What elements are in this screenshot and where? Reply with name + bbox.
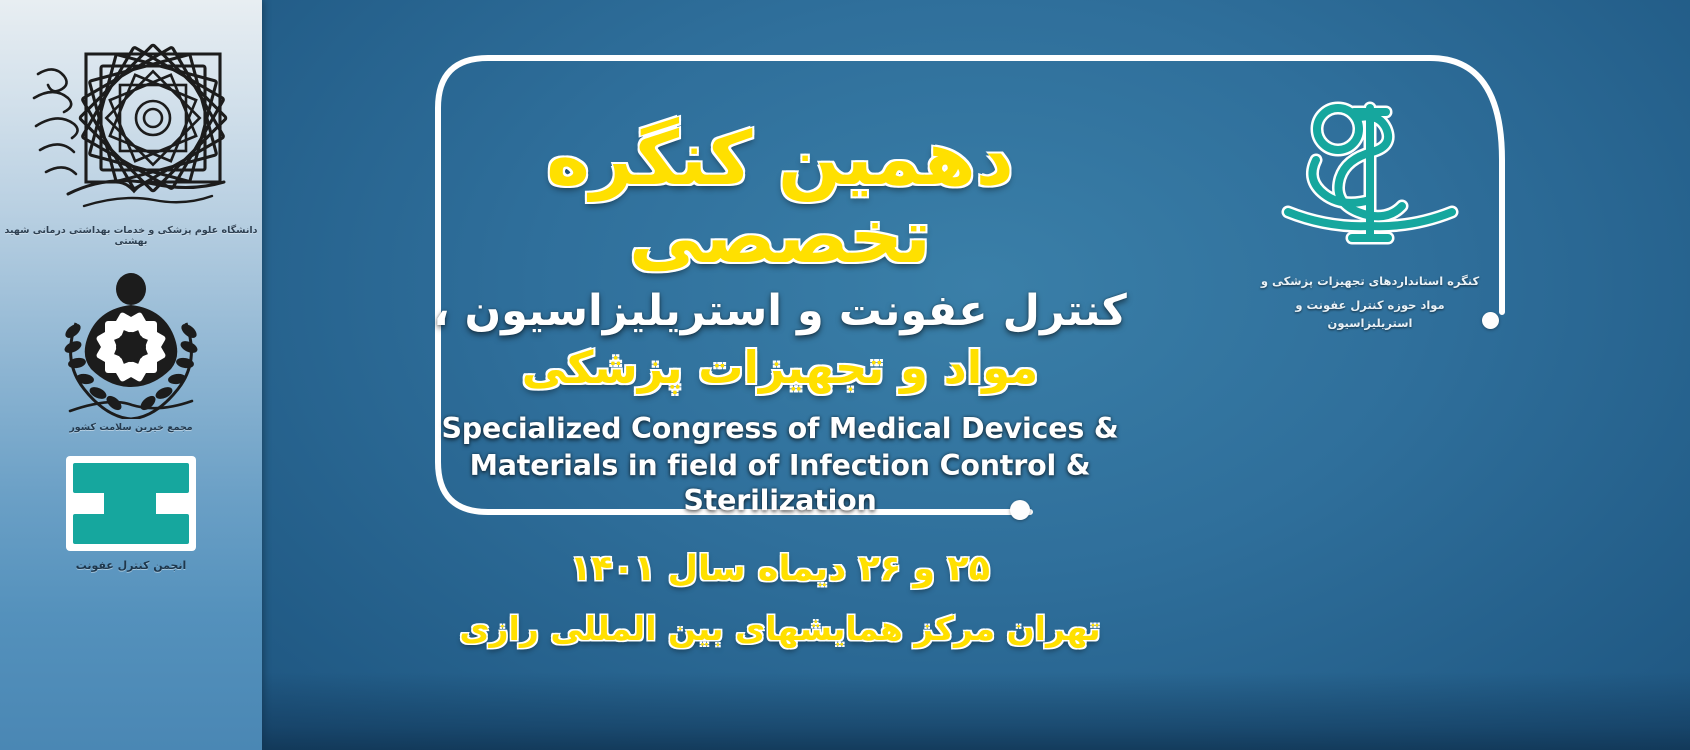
congress-caduceus-emblem-icon	[1270, 88, 1470, 263]
bottom-gradient-overlay	[262, 672, 1690, 750]
infection-control-monogram-icon	[61, 451, 201, 556]
subtitle-line-1: کنترل عفونت و استریلیزاسیون ،	[400, 285, 1160, 337]
logo-caption-infection-control: انجمن کنترل عفونت	[76, 559, 187, 572]
health-assembly-emblem-icon	[46, 269, 216, 419]
event-venue: تهران مرکز همایشهای بین المللی رازی	[400, 608, 1160, 649]
logo-shahid-beheshti-university: دانشگاه علوم پزشکی و خدمات بهداشتی درمان…	[0, 22, 262, 247]
logo-caption-health-assembly: مجمع خیرین سلامت کشور	[69, 422, 192, 433]
event-details: ۲۵ و ۲۶ دیماه سال ۱۴۰۱ تهران مرکز همایشه…	[400, 548, 1160, 649]
title-group: دهمین کنگره تخصصی کنترل عفونت و استریلیز…	[400, 120, 1160, 519]
logo-health-assembly: مجمع خیرین سلامت کشور	[46, 269, 216, 433]
english-subtitle-line-2: Materials in field of Infection Control …	[400, 449, 1160, 519]
logo-infection-control-association: انجمن کنترل عفونت	[61, 451, 201, 572]
shahid-beheshti-emblem-icon	[24, 22, 239, 222]
congress-emblem: کنگره استانداردهای تجهیزات پزشکی و مواد …	[1255, 88, 1485, 332]
emblem-caption-line-2: مواد حوزه کنترل عفونت و استریلیزاسیون	[1255, 297, 1485, 333]
emblem-caption-line-1: کنگره استانداردهای تجهیزات پزشکی و	[1255, 273, 1485, 291]
english-subtitle-line-1: Specialized Congress of Medical Devices …	[400, 412, 1160, 447]
event-date: ۲۵ و ۲۶ دیماه سال ۱۴۰۱	[400, 548, 1160, 592]
logo-caption-sbmu: دانشگاه علوم پزشکی و خدمات بهداشتی درمان…	[0, 225, 262, 247]
subtitle-line-2: مواد و تجهیزات پزشکی	[400, 341, 1160, 394]
page-title: دهمین کنگره تخصصی	[400, 120, 1160, 277]
logo-sidebar: دانشگاه علوم پزشکی و خدمات بهداشتی درمان…	[0, 0, 262, 750]
congress-banner: دانشگاه علوم پزشکی و خدمات بهداشتی درمان…	[0, 0, 1690, 750]
